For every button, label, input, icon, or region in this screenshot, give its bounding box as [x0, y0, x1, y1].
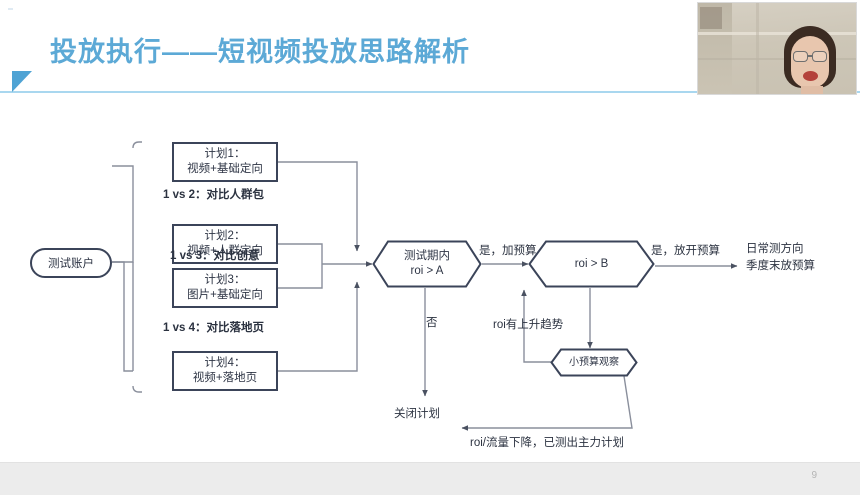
node-plan-1[interactable]: 计划1： 视频+基础定向 [172, 142, 278, 182]
presenter-neck [801, 86, 823, 95]
node-plan-3-title: 计划3： [205, 273, 246, 288]
node-decision-1-line1: 测试期内 [404, 249, 450, 264]
label-comparison-1-vs-4: 1 vs 4：对比落地页 [163, 319, 264, 335]
node-plan-1-title: 计划1： [205, 147, 246, 162]
label-edge-no: 否 [426, 314, 438, 330]
label-edge-roi-uptrend: roi有上升趋势 [493, 316, 563, 332]
webcam-wall-line-upper [698, 32, 857, 35]
presenter-webcam-video[interactable] [697, 2, 857, 95]
terminal-close-plan: 关闭计划 [394, 405, 440, 421]
flowchart-diagram: 测试账户 计划1： 视频+基础定向 计划2： 视频+人群定向 计划3： 图片+基… [0, 96, 860, 462]
label-edge-yes-release-budget: 是，放开预算 [651, 242, 720, 258]
presenter-mouth [803, 71, 818, 81]
node-decision-1-line2: roi > A [411, 264, 444, 279]
node-plan-3-detail: 图片+基础定向 [187, 288, 263, 303]
label-edge-roi-drop: roi/流量下降，已测出主力计划 [470, 434, 624, 450]
node-plan-4[interactable]: 计划4： 视频+落地页 [172, 351, 278, 391]
node-small-budget-observe-label: 小预算观察 [569, 355, 619, 370]
label-comparison-1-vs-3: 1 vs 3：对比创意 [170, 247, 259, 263]
node-decision-2-line1: roi > B [575, 257, 609, 272]
node-plan-3[interactable]: 计划3： 图片+基础定向 [172, 268, 278, 308]
node-test-account-label: 测试账户 [48, 255, 94, 271]
node-decision-roi-b[interactable]: roi > B [528, 240, 655, 288]
node-plan-4-detail: 视频+落地页 [193, 371, 257, 386]
terminal-final-line-1: 日常测方向 [746, 240, 804, 256]
node-plan-4-title: 计划4： [205, 356, 246, 371]
slide-footer-band [0, 462, 860, 495]
title-triangle-accent [12, 71, 32, 92]
glasses-lens-right-icon [812, 51, 827, 62]
corner-tick-decoration [8, 8, 13, 10]
glasses-bridge-icon [808, 55, 812, 57]
terminal-final-line-2: 季度末放预算 [746, 257, 815, 273]
label-comparison-1-vs-2: 1 vs 2：对比人群包 [163, 186, 264, 202]
page-number: 9 [811, 470, 817, 481]
webcam-shelf-object [700, 7, 722, 29]
node-small-budget-observe[interactable]: 小预算观察 [550, 348, 638, 377]
page-title: 投放执行——短视频投放思路解析 [50, 30, 470, 69]
node-plan-1-detail: 视频+基础定向 [187, 162, 263, 177]
glasses-lens-left-icon [793, 51, 808, 62]
node-plan-2-title: 计划2： [205, 229, 246, 244]
node-decision-test-period-roi[interactable]: 测试期内 roi > A [372, 240, 482, 288]
webcam-wall-line-vertical [756, 3, 759, 95]
node-test-account[interactable]: 测试账户 [30, 248, 112, 278]
slide-canvas: 投放执行——短视频投放思路解析 [0, 0, 860, 495]
